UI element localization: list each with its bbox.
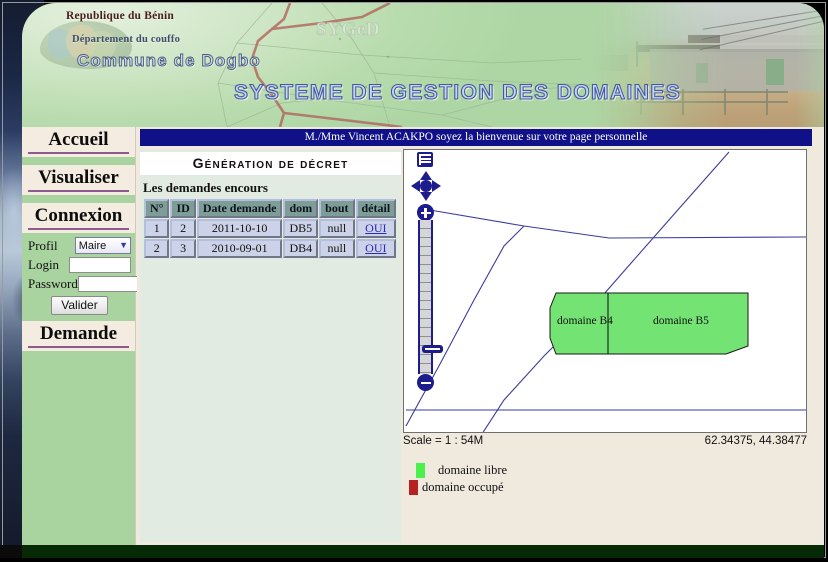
legend-label: domaine libre (438, 463, 507, 478)
sidebar-item-label[interactable]: Connexion (28, 205, 129, 230)
legend-item-occupe: domaine occupé (409, 480, 507, 495)
spacer (22, 157, 135, 165)
spacer (22, 195, 135, 203)
submit-row: Valider (28, 296, 131, 315)
header-commune-label: Commune de Dogbo (77, 51, 261, 71)
sidebar-item-demande[interactable]: Demande (22, 321, 135, 351)
header-department-label: Département du couffo (72, 34, 180, 45)
legend-label: domaine occupé (422, 480, 504, 495)
table-header-row: N° ID Date demande dom bout détail (144, 199, 396, 218)
chevron-down-icon: ▼ (119, 241, 128, 250)
cell-dom: DB4 (283, 239, 318, 258)
legend-swatch-green (416, 463, 425, 478)
table-row: 1 2 2011-10-10 DB5 null OUI (144, 219, 396, 238)
map-status-bar: Scale = 1 : 54M 62.34375, 44.38477 (403, 435, 807, 447)
sidebar: Accueil Visualiser Connexion Profil Mair… (22, 127, 136, 545)
scale-readout: Scale = 1 : 54M (403, 435, 483, 447)
page-header: Republique du Bénin Département du couff… (22, 3, 824, 127)
sidebar-item-label[interactable]: Demande (28, 323, 129, 348)
legend-swatch-red (409, 480, 418, 495)
layers-icon[interactable] (417, 152, 433, 167)
map-controls (413, 152, 439, 400)
password-input[interactable] (78, 276, 140, 292)
parcel-label-b4: domaine B4 (557, 315, 613, 327)
coordinates-readout: 62.34375, 44.38477 (705, 435, 807, 447)
cell-detail[interactable]: OUI (356, 219, 397, 238)
cell-date: 2011-10-10 (197, 219, 283, 238)
sidebar-item-visualiser[interactable]: Visualiser (22, 165, 135, 195)
demandes-table: N° ID Date demande dom bout détail 1 2 2 (143, 198, 397, 259)
cell-id: 3 (170, 239, 195, 258)
table-caption: Les demandes encours (143, 180, 401, 196)
cell-id: 2 (170, 219, 195, 238)
arrow-left-icon[interactable] (411, 180, 420, 192)
legend-item-libre: domaine libre (416, 463, 507, 478)
app-window: Republique du Bénin Département du couff… (0, 0, 828, 562)
column-header-bout: bout (319, 199, 354, 218)
sidebar-item-accueil[interactable]: Accueil (22, 127, 135, 157)
decree-panel: Génération de décret Les demandes encour… (140, 149, 401, 542)
syged-watermark: SYGeD (316, 19, 380, 41)
footer-left-tail (0, 545, 22, 558)
column-header-detail: détail (356, 199, 397, 218)
map-vector-layer (404, 150, 807, 433)
login-form: Profil Maire ▼ Login Password Valider (22, 233, 135, 321)
map-panel: domaine B4 domaine B5 (403, 149, 812, 542)
header-street-photo (592, 3, 824, 127)
column-header-id: ID (170, 199, 195, 218)
plus-icon[interactable] (417, 204, 434, 221)
minus-icon[interactable] (417, 374, 434, 391)
table-row: 2 3 2010-09-01 DB4 null OUI (144, 239, 396, 258)
password-row: Password (28, 276, 131, 292)
cell-detail[interactable]: OUI (356, 239, 397, 258)
main-content: M./Mme Vincent ACAKPO soyez la bienvenue… (137, 127, 824, 545)
arrow-down-icon[interactable] (420, 192, 432, 201)
page-body: Accueil Visualiser Connexion Profil Mair… (22, 127, 824, 545)
welcome-banner: M./Mme Vincent ACAKPO soyez la bienvenue… (140, 129, 812, 146)
map-canvas[interactable]: domaine B4 domaine B5 (403, 149, 807, 433)
login-row: Login (28, 257, 131, 273)
panel-title: Génération de décret (140, 152, 401, 175)
column-header-date: Date demande (197, 199, 283, 218)
arrow-right-icon[interactable] (432, 180, 441, 192)
cell-num: 2 (144, 239, 169, 258)
cell-bout: null (319, 239, 354, 258)
profil-select[interactable]: Maire ▼ (75, 237, 131, 254)
password-label: Password (28, 276, 78, 292)
zoom-slider[interactable] (418, 220, 433, 374)
login-label: Login (28, 257, 69, 273)
zoom-slider-thumb[interactable] (422, 345, 443, 353)
valider-button[interactable]: Valider (51, 296, 107, 315)
parcel-label-b5: domaine B5 (653, 315, 709, 327)
profil-row: Profil Maire ▼ (28, 237, 131, 254)
sidebar-item-label[interactable]: Accueil (28, 129, 129, 154)
footer-bar (22, 545, 824, 558)
detail-link[interactable]: OUI (365, 221, 386, 235)
pan-control (411, 171, 441, 201)
profil-select-value: Maire (79, 240, 107, 252)
column-header-num: N° (144, 199, 169, 218)
map-legend: domaine libre domaine occupé (409, 463, 507, 497)
sidebar-item-connexion[interactable]: Connexion (22, 203, 135, 233)
page-title: SYSTEME DE GESTION DES DOMAINES (234, 81, 681, 105)
header-country-label: Republique du Bénin (66, 10, 174, 22)
cell-date: 2010-09-01 (197, 239, 283, 258)
sidebar-item-label[interactable]: Visualiser (28, 167, 129, 192)
pan-center-icon[interactable] (420, 180, 432, 192)
cell-bout: null (319, 219, 354, 238)
detail-link[interactable]: OUI (365, 241, 386, 255)
column-header-dom: dom (283, 199, 318, 218)
cell-num: 1 (144, 219, 169, 238)
arrow-up-icon[interactable] (420, 171, 432, 180)
profil-label: Profil (28, 238, 75, 254)
cell-dom: DB5 (283, 219, 318, 238)
login-input[interactable] (69, 257, 131, 273)
